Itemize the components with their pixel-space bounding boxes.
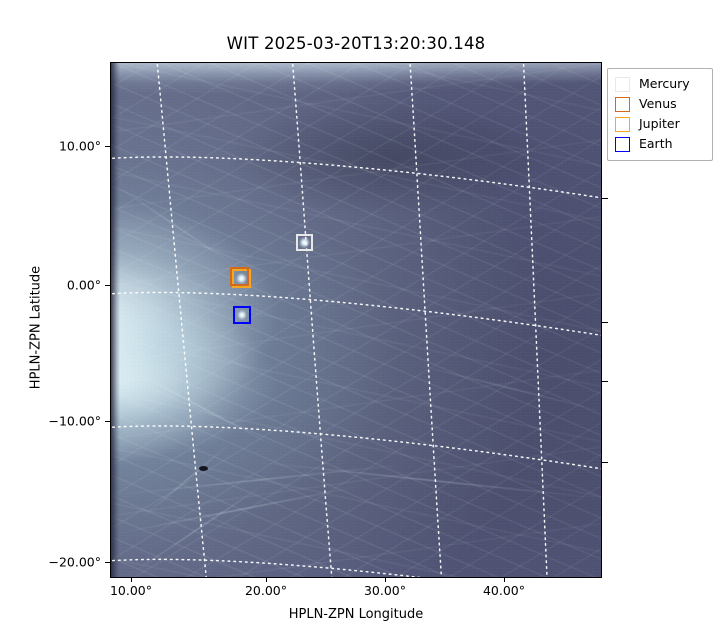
legend: Mercury Venus Jupiter Earth xyxy=(607,68,713,161)
page-title: WIT 2025-03-20T13:20:30.148 xyxy=(110,34,602,53)
xtick-mark xyxy=(266,578,267,582)
legend-swatch-earth xyxy=(615,137,630,152)
ytick-label: −20.00° xyxy=(20,555,101,570)
x-axis-label: HPLN-ZPN Longitude xyxy=(110,607,602,622)
legend-swatch-jupiter xyxy=(615,117,630,132)
coronagraph-image xyxy=(111,63,601,577)
xtick-label: 40.00° xyxy=(483,583,525,598)
mercury-point-source xyxy=(300,238,308,246)
marker-earth[interactable] xyxy=(233,306,251,324)
legend-label: Earth xyxy=(639,138,673,151)
legend-swatch-mercury xyxy=(615,77,630,92)
xtick-label: 10.00° xyxy=(110,583,152,598)
right-tick-mark xyxy=(602,322,608,323)
plot-axes xyxy=(110,62,602,578)
marker-mercury[interactable] xyxy=(296,234,313,251)
legend-label: Jupiter xyxy=(639,118,680,131)
ytick-mark xyxy=(105,285,110,286)
xtick-mark xyxy=(504,578,505,582)
occulter-spot xyxy=(199,466,208,471)
earth-point-source xyxy=(238,311,247,320)
legend-item-jupiter[interactable]: Jupiter xyxy=(615,114,706,134)
right-tick-mark xyxy=(602,462,608,463)
legend-swatch-venus xyxy=(615,97,630,112)
ytick-mark xyxy=(105,562,110,563)
figure-canvas: WIT 2025-03-20T13:20:30.148 xyxy=(0,0,720,640)
legend-label: Venus xyxy=(639,98,677,111)
xtick-mark xyxy=(131,578,132,582)
xtick-label: 20.00° xyxy=(245,583,287,598)
legend-item-earth[interactable]: Earth xyxy=(615,134,706,154)
legend-item-venus[interactable]: Venus xyxy=(615,94,706,114)
marker-venus[interactable] xyxy=(230,267,249,286)
legend-item-mercury[interactable]: Mercury xyxy=(615,74,706,94)
ytick-mark xyxy=(105,146,110,147)
right-tick-mark xyxy=(602,198,608,199)
ytick-mark xyxy=(105,421,110,422)
y-axis-label: HPLN-ZPN Latitude xyxy=(29,218,44,438)
xtick-label: 30.00° xyxy=(364,583,406,598)
xtick-mark xyxy=(385,578,386,582)
right-tick-mark xyxy=(602,381,608,382)
ytick-label: 10.00° xyxy=(28,139,101,154)
legend-label: Mercury xyxy=(639,78,690,91)
